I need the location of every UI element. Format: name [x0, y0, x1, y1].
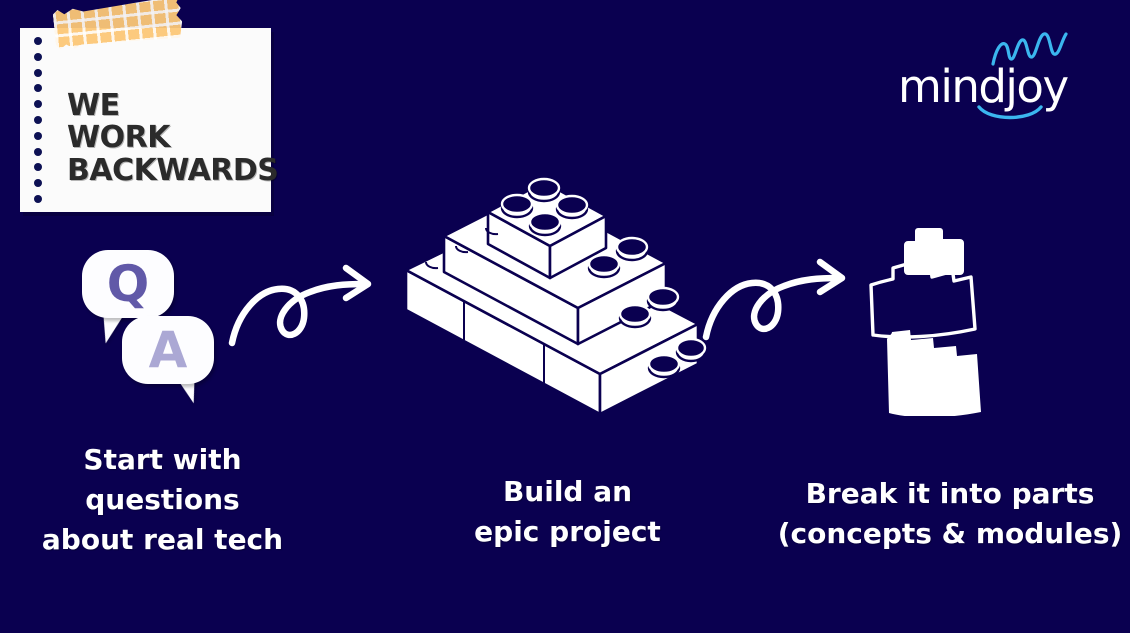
- slide-canvas: WE WORK BACKWARDS mindjoy Q A: [0, 0, 1130, 633]
- slide-title: WE WORK BACKWARDS: [67, 90, 282, 187]
- notepad-hole: [34, 53, 42, 61]
- notepad-hole: [34, 100, 42, 108]
- notepad-hole: [34, 195, 42, 203]
- separated-lego-bricks-illustration: [868, 216, 1088, 416]
- curly-arrow-icon-2: [702, 255, 862, 355]
- notepad-hole: [34, 37, 42, 45]
- notepad-hole: [34, 179, 42, 187]
- step-caption-start-with-questions: Start with questions about real tech: [20, 440, 305, 559]
- notepad-hole: [34, 69, 42, 77]
- qa-speech-bubbles-illustration: Q A: [78, 250, 218, 410]
- notepad-hole: [34, 163, 42, 171]
- notepad-hole-column: [32, 37, 44, 203]
- lego-brick-small: [904, 228, 964, 275]
- logo-smile-icon: [976, 103, 1044, 125]
- speech-bubble-question: Q: [82, 250, 174, 318]
- curly-arrow-icon-1: [228, 258, 388, 358]
- notepad-hole: [34, 116, 42, 124]
- notepad-hole: [34, 148, 42, 156]
- notepad-hole: [34, 132, 42, 140]
- lego-staircase-illustration: [392, 162, 708, 450]
- notepad-hole: [34, 84, 42, 92]
- notepad-card: WE WORK BACKWARDS: [20, 28, 271, 212]
- mindjoy-logo: mindjoy: [898, 33, 1088, 111]
- speech-bubble-answer: A: [122, 316, 214, 384]
- step-caption-build-epic-project: Build an epic project: [430, 472, 705, 552]
- step-caption-break-into-parts: Break it into parts (concepts & modules): [770, 474, 1130, 554]
- lego-brick-large: [887, 330, 981, 416]
